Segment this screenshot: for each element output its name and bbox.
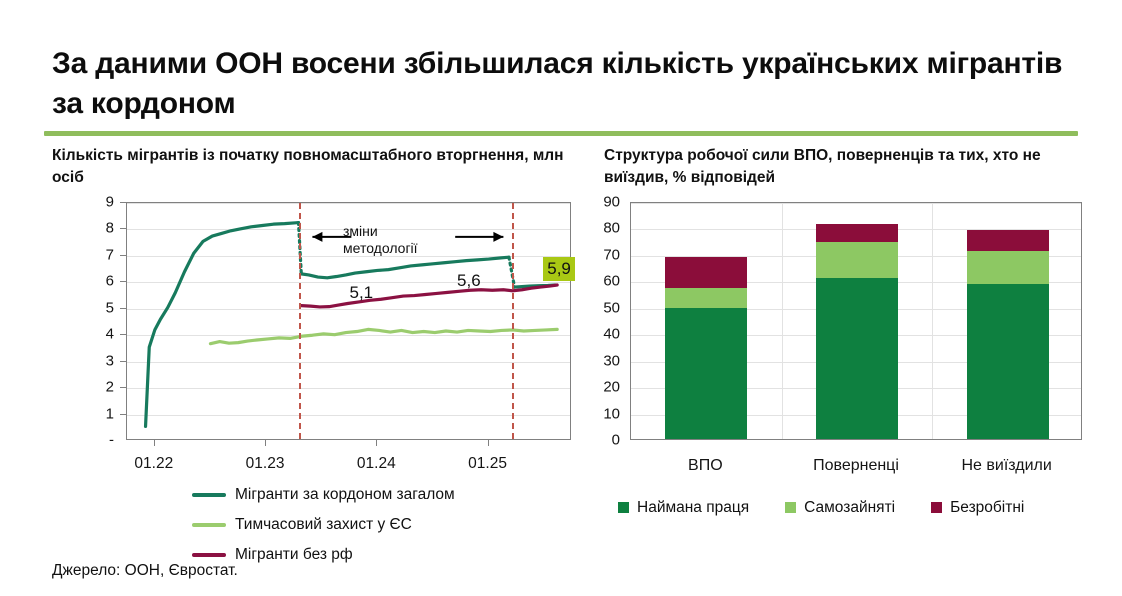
category-separator: [782, 203, 783, 439]
category-separator: [932, 203, 933, 439]
accent-divider: [44, 131, 1078, 136]
legend-swatch-icon: [785, 502, 796, 513]
bar-chart-legend: Наймана працяСамозайнятіБезробітні: [618, 500, 1108, 516]
bar-segment[interactable]: [816, 224, 898, 243]
page-title: За даними ООН восени збільшилася кількіс…: [52, 44, 1072, 123]
left-chart-subtitle: Кількість мігрантів із початку повномасш…: [52, 145, 592, 189]
bar-chart-y-tick: 80: [596, 221, 620, 236]
line-chart-y-tick: 1: [44, 406, 114, 421]
legend-item-label: Наймана праця: [637, 500, 749, 516]
line-chart-y-tick: -: [44, 433, 114, 448]
legend-item-label: Мігранти за кордоном загалом: [235, 487, 455, 503]
line-chart-x-tick: 01.22: [114, 456, 194, 472]
line-chart-legend: Мігранти за кордоном загаломТимчасовий з…: [192, 480, 455, 570]
line-chart-y-tick: 3: [44, 353, 114, 368]
legend-item[interactable]: Тимчасовий захист у ЄС: [192, 510, 455, 540]
legend-item-label: Тимчасовий захист у ЄС: [235, 517, 412, 533]
line-chart-x-tick: 01.25: [448, 456, 528, 472]
legend-item-label: Безробітні: [950, 500, 1024, 516]
line-chart-y-tick: 2: [44, 380, 114, 395]
bar-chart-y-tick: 50: [596, 300, 620, 315]
bar-segment[interactable]: [967, 251, 1049, 284]
line-chart-y-tick: 9: [44, 195, 114, 210]
x-tick-mark: [376, 440, 377, 446]
bar-segment[interactable]: [816, 242, 898, 278]
methodology-change-line: [299, 203, 301, 439]
bar-column[interactable]: [665, 257, 747, 439]
bar-category-label: Не виїздили: [917, 458, 1097, 474]
legend-swatch-icon: [618, 502, 629, 513]
bar-segment[interactable]: [665, 308, 747, 439]
bar-column[interactable]: [967, 230, 1049, 439]
bar-segment[interactable]: [816, 278, 898, 439]
value-label-59: 5,9: [543, 257, 575, 281]
line-chart-x-tick: 01.23: [225, 456, 305, 472]
legend-swatch-icon: [192, 523, 226, 527]
methodology-change-line: [512, 203, 514, 439]
legend-item[interactable]: Мігранти за кордоном загалом: [192, 480, 455, 510]
bar-segment[interactable]: [665, 257, 747, 289]
legend-swatch-icon: [192, 493, 226, 497]
bar-chart-y-tick: 40: [596, 327, 620, 342]
source-note: Джерело: ООН, Євростат.: [52, 562, 238, 580]
methodology-change-label: зміни методології: [343, 223, 439, 258]
legend-item[interactable]: Самозайняті: [785, 500, 895, 516]
legend-item-label: Мігранти без рф: [235, 547, 353, 563]
bar-chart-y-tick: 30: [596, 353, 620, 368]
legend-swatch-icon: [931, 502, 942, 513]
annotation-arrow-icon: [455, 232, 503, 242]
bar-segment[interactable]: [967, 284, 1049, 439]
bar-chart-bars-layer: [631, 203, 1081, 439]
line-chart-y-tick: 8: [44, 221, 114, 236]
bar-chart-y-tick: 10: [596, 406, 620, 421]
line-chart-y-tick: 6: [44, 274, 114, 289]
left-chart-panel: Кількість мігрантів із початку повномасш…: [44, 140, 592, 592]
right-chart-panel: Структура робочої сили ВПО, поверненців …: [596, 140, 1108, 592]
line-chart-plot-area: зміни методології5,15,65,9: [126, 202, 571, 440]
bar-chart-plot-area: [630, 202, 1082, 440]
bar-chart-y-tick: 70: [596, 247, 620, 262]
bar-chart-y-tick: 90: [596, 195, 620, 210]
bar-chart-y-tick: 60: [596, 274, 620, 289]
bar-segment[interactable]: [967, 230, 1049, 251]
bar-column[interactable]: [816, 223, 898, 439]
bar-segment[interactable]: [665, 288, 747, 308]
line-chart-y-tick: 7: [44, 247, 114, 262]
legend-item[interactable]: Безробітні: [931, 500, 1024, 516]
x-tick-mark: [154, 440, 155, 446]
line-chart-y-tick: 5: [44, 300, 114, 315]
line-series: [146, 223, 299, 427]
right-chart-subtitle: Структура робочої сили ВПО, поверненців …: [604, 145, 1108, 189]
line-chart-y-tick: 4: [44, 327, 114, 342]
bar-chart-y-tick: 0: [596, 433, 620, 448]
legend-swatch-icon: [192, 553, 226, 557]
x-tick-mark: [265, 440, 266, 446]
value-label-51: 5,1: [350, 284, 374, 301]
value-label-56: 5,6: [457, 272, 481, 289]
legend-item[interactable]: Наймана праця: [618, 500, 749, 516]
legend-item-label: Самозайняті: [804, 500, 895, 516]
line-chart-x-tick: 01.24: [336, 456, 416, 472]
line-series: [210, 329, 557, 343]
x-tick-mark: [488, 440, 489, 446]
bar-chart-y-tick: 20: [596, 380, 620, 395]
